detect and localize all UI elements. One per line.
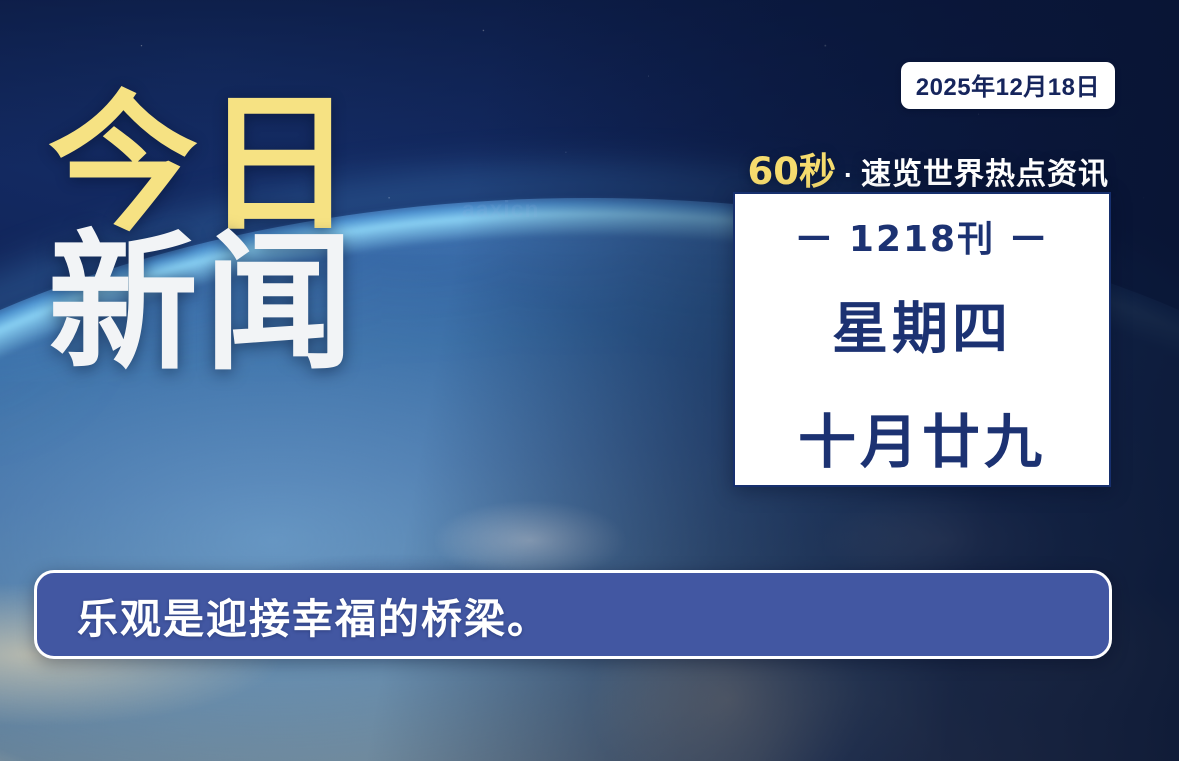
issue-number: 1218刊 <box>849 210 995 262</box>
weekday-label: 星期四 <box>832 284 1012 365</box>
date-info-card: — 1218刊 — 星期四 十月廿九 <box>733 192 1111 487</box>
title-line-news: 新闻 <box>48 231 478 378</box>
dash-right-icon: — <box>1011 216 1047 256</box>
subhead-description: 速览世界热点资讯 <box>861 149 1109 193</box>
dash-left-icon: — <box>797 216 833 256</box>
watermark: aaxicn <box>462 196 602 223</box>
daily-quote-text: 乐观是迎接幸福的桥梁。 <box>77 585 550 645</box>
daily-quote-bar: 乐观是迎接幸福的桥梁。 <box>34 570 1112 659</box>
news-poster: aaxicn 今日 新闻 2025年12月18日 60秒 · 速览世界热点资讯 … <box>0 0 1179 761</box>
lunar-date-label: 十月廿九 <box>798 395 1046 479</box>
subhead-separator-icon: · <box>842 160 855 191</box>
subheadline: 60秒 · 速览世界热点资讯 <box>748 141 1110 195</box>
date-badge: 2025年12月18日 <box>901 62 1115 109</box>
poster-title: 今日 新闻 <box>48 92 478 378</box>
issue-number-row: — 1218刊 — <box>797 210 1047 262</box>
subhead-seconds: 60秒 <box>748 141 837 195</box>
